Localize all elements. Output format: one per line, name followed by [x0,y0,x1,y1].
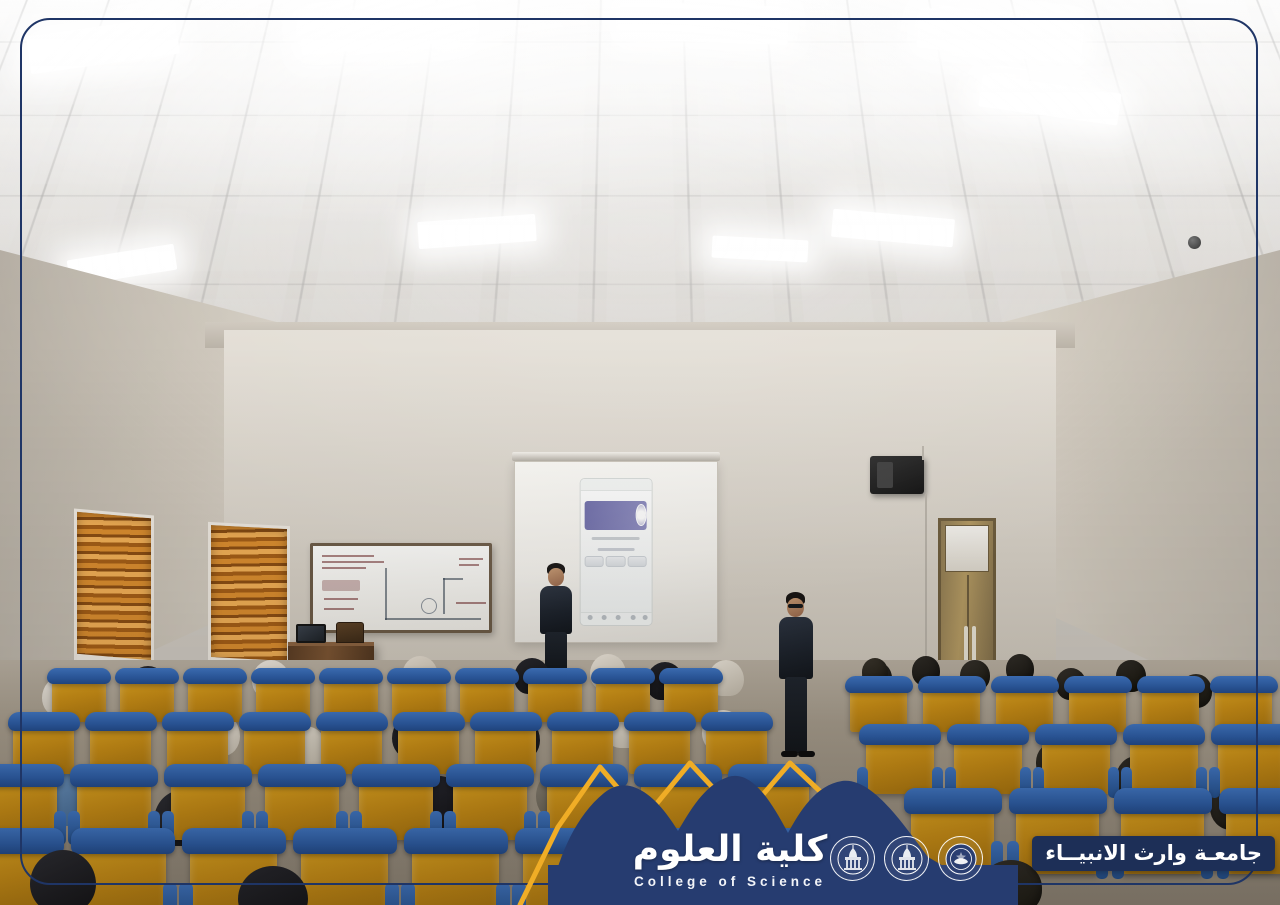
app-button [585,556,604,566]
desktop-monitor [296,624,326,643]
whiteboard-writing [324,608,354,610]
whiteboard-writing [459,564,479,566]
university-name-badge: جامعـة وارث الانبيــاء [1032,836,1275,871]
window-with-blinds [74,509,154,668]
whiteboard [310,543,492,633]
app-button [606,556,625,566]
banner-logo-group [830,836,983,881]
whiteboard-diagram [443,578,445,614]
screen-roller-housing [512,452,720,461]
wall-speaker [870,456,924,494]
whiteboard-diagram [443,578,463,580]
whiteboard-writing [322,555,374,557]
university-name-text: جامعـة وارث الانبيــاء [1045,841,1262,865]
shrine-dome-seal-middle-icon [884,836,929,881]
banner-shape-svg [0,745,1280,905]
whiteboard-writing [459,558,483,560]
laptop [336,622,364,643]
shrine-dome-seal-left-icon [830,836,875,881]
whiteboard-axis-vertical [385,568,387,620]
slide-mobile-app-mockup [580,478,653,626]
presenter-suit-jacket [540,586,572,634]
whiteboard-formula [322,580,360,591]
led-panel [619,1,788,45]
speaker-cable [925,494,927,674]
whiteboard-writing [456,602,486,604]
door-transom-window [945,525,989,572]
window-with-blinds [208,522,290,668]
university-seal-right-icon [938,836,983,881]
ceiling-camera [1188,236,1201,249]
presenter-suit-jacket [779,617,813,679]
app-text-line [598,548,635,551]
app-text-line [592,537,640,540]
app-status-bar [581,479,652,491]
whiteboard-writing [324,598,358,600]
whiteboard-diagram [421,598,437,614]
app-logo-seal [636,504,647,526]
whiteboard-writing [322,561,384,563]
whiteboard-axis-horizontal [385,618,481,620]
whiteboard-writing [322,567,366,569]
presenter-head [548,568,564,586]
speaker-cable [922,446,924,460]
app-nav-dot [630,615,635,620]
presenter-sunglasses [788,604,803,608]
app-button [627,556,646,566]
bottom-brand-banner: كلية العلوم College of Science [0,745,1280,905]
